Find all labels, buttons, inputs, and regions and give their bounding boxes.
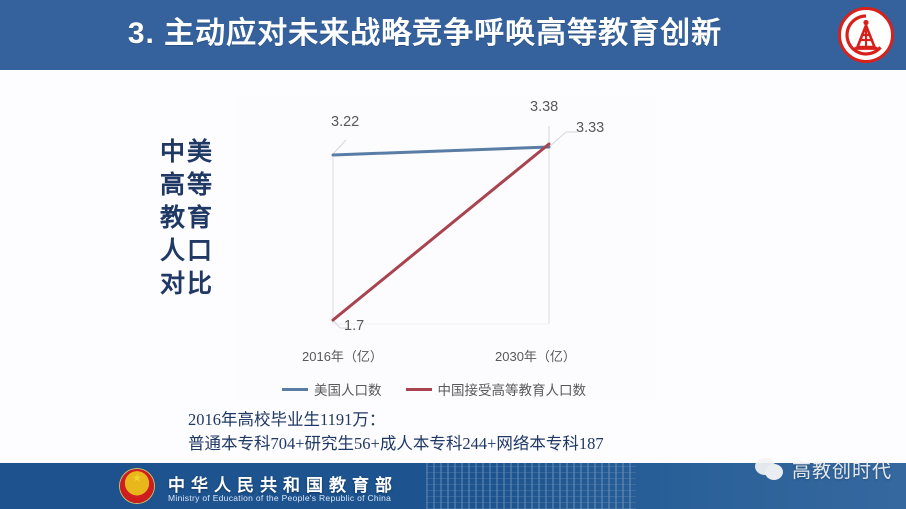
data-label-us-2016: 3.22 — [331, 114, 359, 130]
vtitle-char: 美 — [187, 136, 212, 169]
chart-vertical-title-col-right: 中 高 教 人 对 — [160, 136, 185, 301]
vtitle-char: 育 — [187, 202, 212, 235]
chart-vertical-title: 美 等 育 口 比 中 高 教 人 对 — [146, 136, 226, 301]
data-label-cn-2030: 3.33 — [576, 120, 604, 136]
legend-item-us: 美国人口数 — [282, 379, 382, 399]
legend-item-cn: 中国接受高等教育人口数 — [406, 379, 587, 399]
line-chart: 3.22 3.38 3.33 1.7 2016年（亿） 2030年（亿） 美国人… — [236, 96, 656, 401]
vtitle-char: 口 — [187, 235, 212, 268]
footer-building-graphic — [426, 463, 636, 509]
graduates-note-line-2: 普通本专科704+研究生56+成人本专科244+网络本专科187 — [188, 432, 604, 456]
series-line-cn — [333, 144, 549, 320]
vtitle-char: 中 — [160, 136, 185, 169]
graduates-note: 2016年高校毕业生1191万： 普通本专科704+研究生56+成人本专科244… — [188, 408, 604, 456]
emblem-star-icon: ★ — [132, 474, 142, 485]
leader-line-cn-2030 — [549, 132, 578, 147]
x-axis-tick-2016: 2016年（亿） — [302, 346, 383, 365]
series-line-us — [333, 147, 549, 155]
wechat-icon — [755, 458, 785, 482]
wechat-bubble-front — [765, 464, 783, 480]
vtitle-char: 比 — [187, 268, 212, 301]
vtitle-char: 高 — [160, 169, 185, 202]
vtitle-char: 教 — [160, 202, 185, 235]
vtitle-char: 等 — [187, 169, 212, 202]
legend-label-cn: 中国接受高等教育人口数 — [438, 379, 587, 399]
leader-line-us-2016 — [333, 140, 346, 154]
watermark-label: 高教创时代 — [792, 456, 892, 483]
graduates-note-line-1: 2016年高校毕业生1191万： — [188, 408, 604, 432]
x-axis-tick-2030: 2030年（亿） — [495, 346, 576, 365]
watermark: 高教创时代 — [755, 456, 892, 483]
chart-vertical-title-col-left: 美 等 育 口 比 — [187, 136, 212, 301]
data-label-us-2030: 3.38 — [530, 99, 558, 115]
vtitle-char: 人 — [160, 235, 185, 268]
legend-swatch-cn-icon — [406, 388, 432, 391]
vtitle-char: 对 — [160, 268, 185, 301]
page-title: 3. 主动应对未来战略竞争呼唤高等教育创新 — [0, 8, 906, 60]
slide: 3. 主动应对未来战略竞争呼唤高等教育创新 美 等 育 口 比 中 高 — [0, 0, 906, 509]
data-label-cn-2016: 1.7 — [344, 318, 364, 334]
legend-label-us: 美国人口数 — [314, 379, 382, 399]
ministry-name-en: Ministry of Education of the People's Re… — [168, 493, 391, 503]
slide-header: 3. 主动应对未来战略竞争呼唤高等教育创新 — [0, 0, 906, 70]
china-national-emblem: ★ — [120, 469, 154, 503]
red-circular-tower-logo — [838, 7, 894, 63]
chart-legend: 美国人口数 中国接受高等教育人口数 — [282, 379, 586, 399]
chart-canvas — [236, 96, 656, 401]
legend-swatch-us-icon — [282, 388, 308, 391]
